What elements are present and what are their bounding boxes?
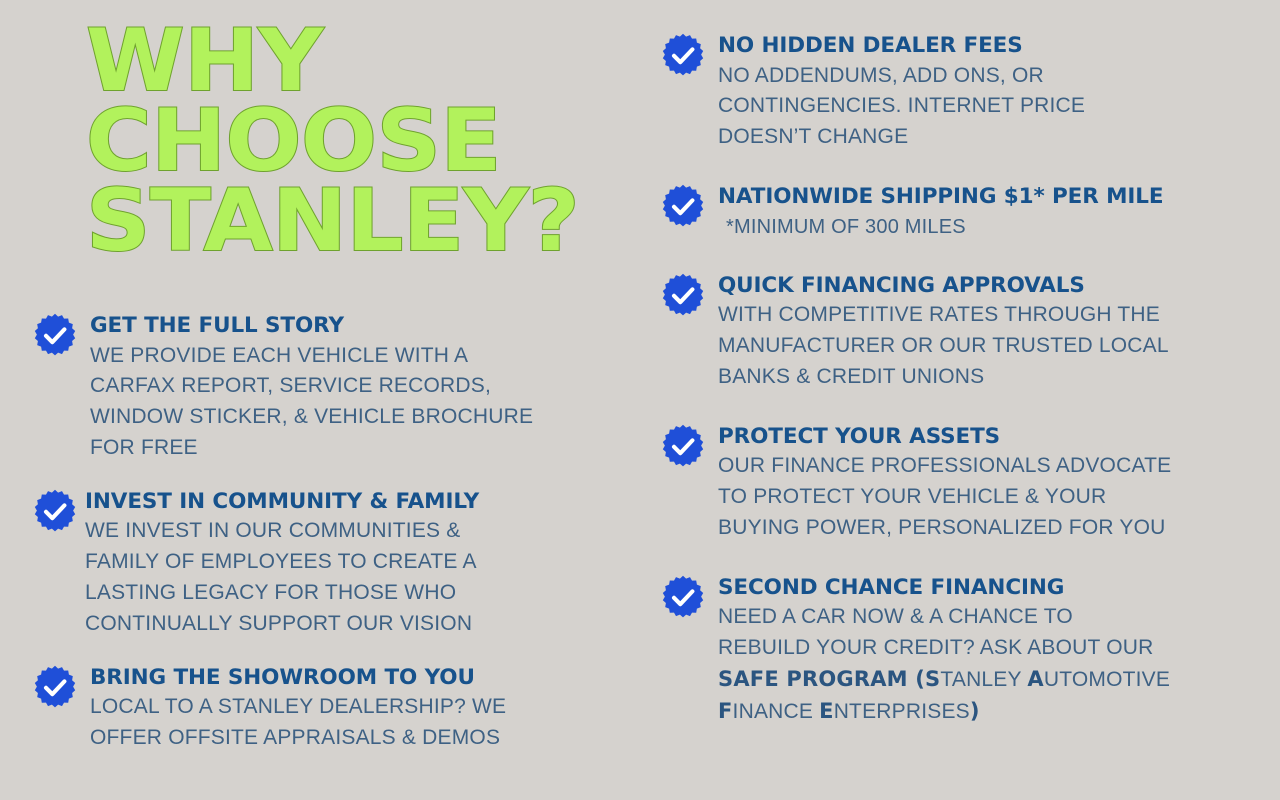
list-item: NO HIDDEN DEALER FEES NO ADDENDUMS, ADD … bbox=[660, 32, 1260, 153]
list-item: NATIONWIDE SHIPPING $1* PER MILE *MINIMU… bbox=[660, 183, 1260, 242]
list-item: INVEST IN COMMUNITY & FAMILY WE INVEST I… bbox=[32, 488, 612, 640]
safe-acronym-plain-4: NTERPRISES bbox=[834, 700, 970, 723]
body-line-2: REBUILD YOUR CREDIT? ASK ABOUT OUR bbox=[718, 636, 1153, 659]
list-item-body: NEED A CAR NOW & A CHANCE TOREBUILD YOUR… bbox=[718, 602, 1260, 727]
list-item-title: SECOND CHANCE FINANCING bbox=[718, 574, 1260, 602]
list-item-body: NO ADDENDUMS, ADD ONS, OR CONTINGENCIES.… bbox=[718, 61, 1260, 154]
safe-acronym-bold-3: F bbox=[718, 699, 733, 723]
safe-acronym-bold-2: A bbox=[1027, 667, 1043, 691]
check-seal-icon bbox=[32, 313, 78, 359]
list-item-title: BRING THE SHOWROOM TO YOU bbox=[90, 664, 612, 692]
list-item: BRING THE SHOWROOM TO YOU LOCAL TO A STA… bbox=[32, 664, 612, 754]
safe-acronym-bold-5: ) bbox=[970, 699, 980, 723]
safe-acronym-plain-3: INANCE bbox=[733, 700, 820, 723]
check-seal-icon bbox=[660, 575, 706, 621]
list-item-title: GET THE FULL STORY bbox=[90, 312, 612, 340]
list-item-title: NATIONWIDE SHIPPING $1* PER MILE bbox=[718, 183, 1260, 211]
page-title: WHY CHOOSE STANLEY? bbox=[86, 22, 627, 262]
poster-canvas: WHY CHOOSE STANLEY? GET THE FULL STORY W… bbox=[0, 0, 1280, 800]
list-item-body: WITH COMPETITIVE RATES THROUGH THE MANUF… bbox=[718, 300, 1260, 393]
list-item-body: OUR FINANCE PROFESSIONALS ADVOCATE TO PR… bbox=[718, 451, 1260, 544]
benefits-list-left: GET THE FULL STORY WE PROVIDE EACH VEHIC… bbox=[32, 312, 612, 754]
safe-acronym-bold-1: SAFE PROGRAM (S bbox=[718, 667, 940, 691]
body-line-1: NEED A CAR NOW & A CHANCE TO bbox=[718, 605, 1073, 628]
list-item: SECOND CHANCE FINANCING NEED A CAR NOW &… bbox=[660, 574, 1260, 728]
list-item-body: WE PROVIDE EACH VEHICLE WITH A CARFAX RE… bbox=[90, 341, 612, 464]
safe-acronym-plain-2: UTOMOTIVE bbox=[1044, 668, 1170, 691]
list-item: PROTECT YOUR ASSETS OUR FINANCE PROFESSI… bbox=[660, 423, 1260, 544]
benefits-list-right: NO HIDDEN DEALER FEES NO ADDENDUMS, ADD … bbox=[660, 32, 1260, 728]
list-item-title: QUICK FINANCING APPROVALS bbox=[718, 272, 1260, 300]
check-seal-icon bbox=[660, 184, 706, 230]
check-seal-icon bbox=[660, 33, 706, 79]
check-seal-icon bbox=[660, 273, 706, 319]
list-item: GET THE FULL STORY WE PROVIDE EACH VEHIC… bbox=[32, 312, 612, 464]
check-seal-icon bbox=[32, 489, 78, 535]
safe-acronym-bold-4: E bbox=[819, 699, 834, 723]
check-seal-icon bbox=[660, 424, 706, 470]
safe-acronym-plain-1: TANLEY bbox=[940, 668, 1027, 691]
list-item-title: PROTECT YOUR ASSETS bbox=[718, 423, 1260, 451]
list-item-body: WE INVEST IN OUR COMMUNITIES & FAMILY OF… bbox=[85, 516, 612, 639]
list-item: QUICK FINANCING APPROVALS WITH COMPETITI… bbox=[660, 272, 1260, 393]
list-item-title: INVEST IN COMMUNITY & FAMILY bbox=[85, 488, 612, 516]
list-item-body: LOCAL TO A STANLEY DEALERSHIP? WE OFFER … bbox=[90, 692, 612, 754]
list-item-note: *MINIMUM OF 300 MILES bbox=[718, 212, 1260, 242]
list-item-title: NO HIDDEN DEALER FEES bbox=[718, 32, 1260, 60]
check-seal-icon bbox=[32, 665, 78, 711]
